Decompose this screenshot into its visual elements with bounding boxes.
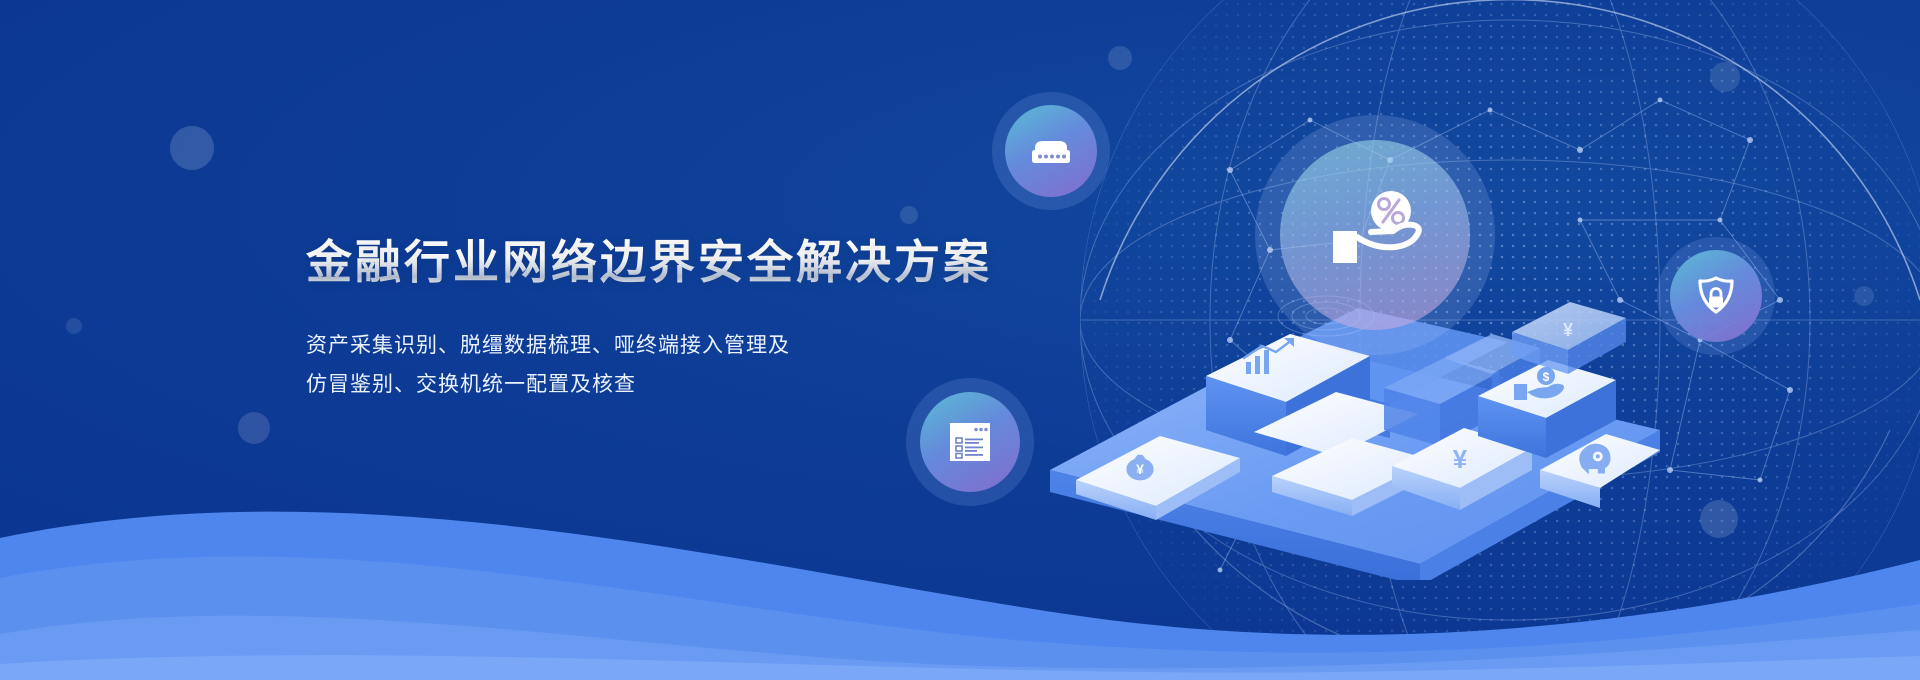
banner-copy: 金融行业网络边界安全解决方案 资产采集识别、脱缰数据梳理、哑终端接入管理及 仿冒…	[306, 235, 1066, 405]
shield-lock-icon	[1670, 250, 1762, 342]
subtitle-line-1: 资产采集识别、脱缰数据梳理、哑终端接入管理及	[306, 327, 1066, 366]
network-switch-icon	[1005, 105, 1097, 197]
bokeh-circle	[1710, 62, 1740, 92]
svg-text:$: $	[1543, 370, 1550, 384]
bokeh-circle	[1854, 286, 1874, 306]
page-title: 金融行业网络边界安全解决方案	[306, 235, 1066, 289]
bokeh-circle	[900, 206, 918, 224]
banner-subtitle: 资产采集识别、脱缰数据梳理、哑终端接入管理及 仿冒鉴别、交换机统一配置及核查	[306, 327, 1066, 405]
bokeh-circle	[1108, 46, 1132, 70]
hand-percent-icon	[1280, 140, 1470, 330]
bokeh-circle	[170, 126, 214, 170]
subtitle-line-2: 仿冒鉴别、交换机统一配置及核查	[306, 366, 1066, 405]
svg-text:¥: ¥	[1563, 320, 1573, 340]
bokeh-circle	[66, 318, 82, 334]
hero-banner: ¥	[0, 0, 1920, 680]
